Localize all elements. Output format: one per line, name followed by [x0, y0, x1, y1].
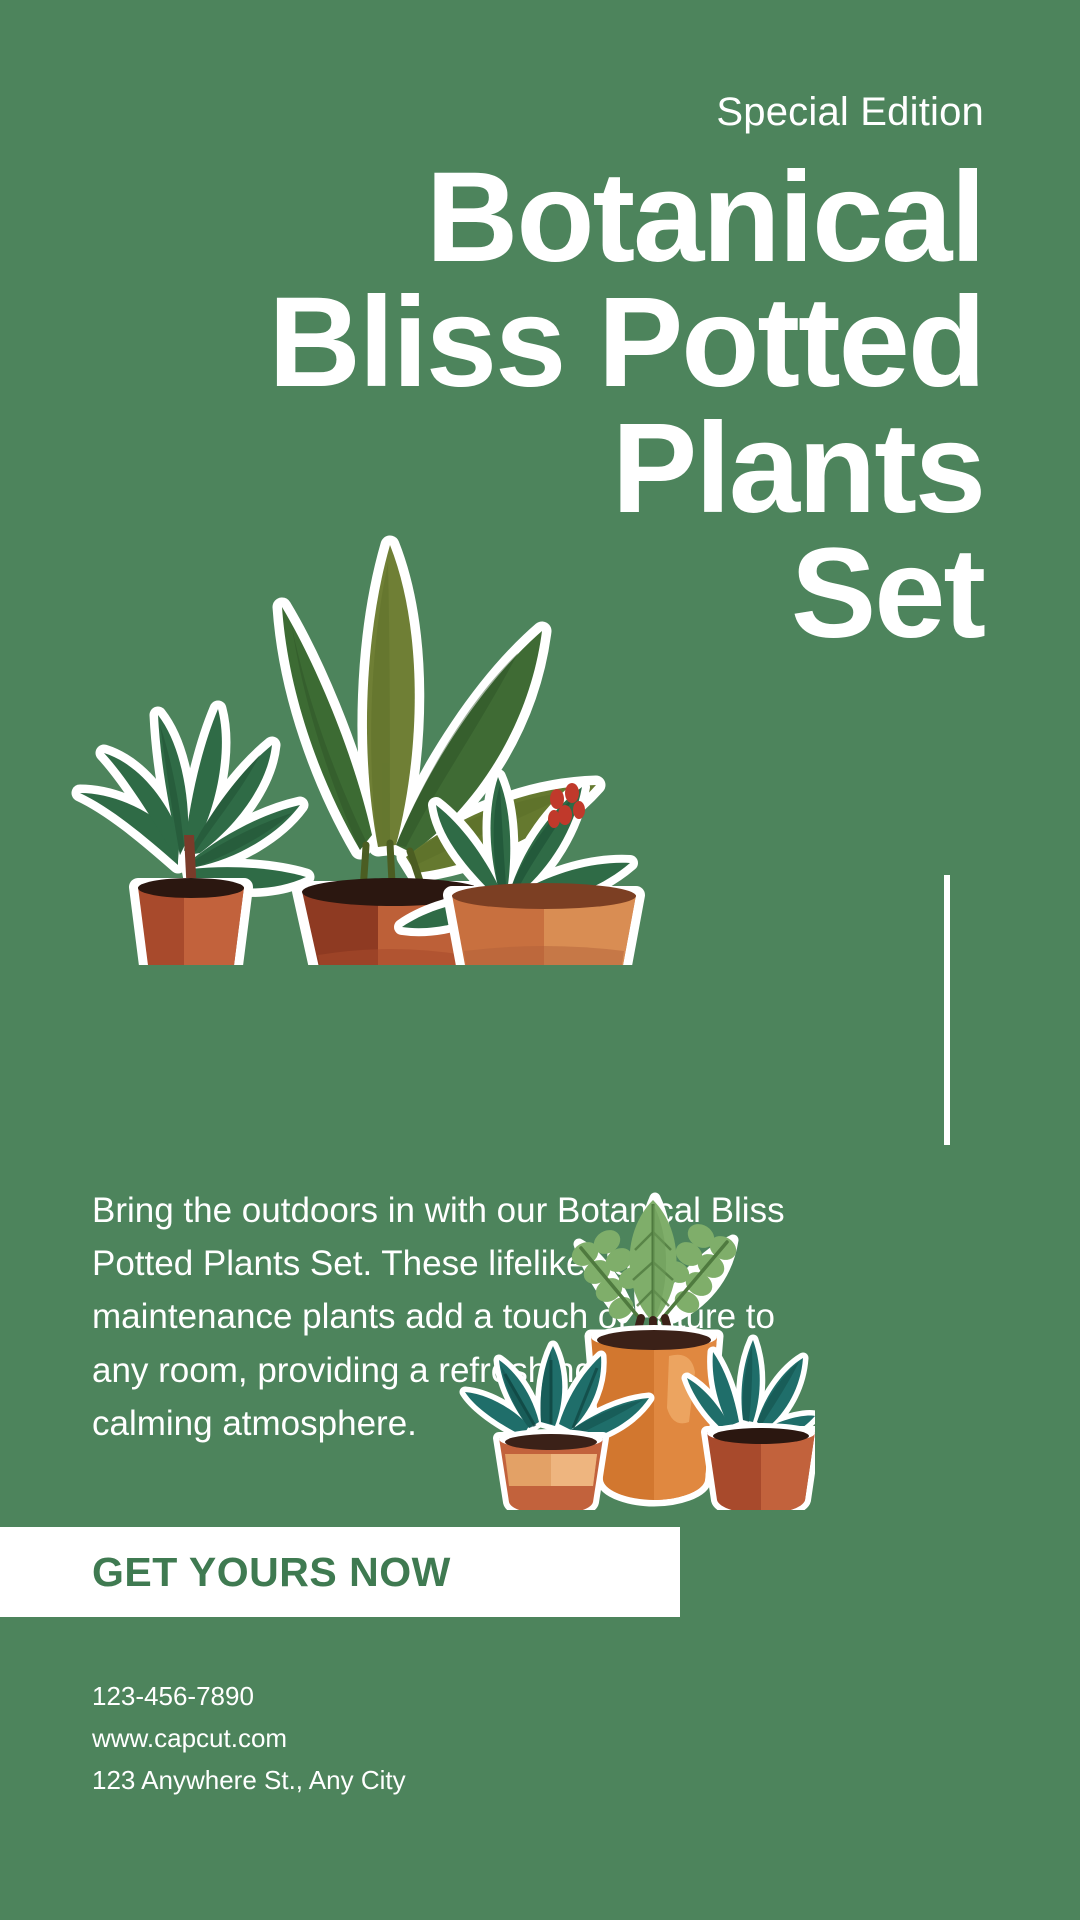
contact-phone[interactable]: 123-456-7890 — [92, 1675, 406, 1717]
title-line-2: Bliss Potted — [60, 280, 984, 405]
potted-plants-trio-illustration — [60, 395, 660, 965]
vertical-divider — [944, 875, 950, 1145]
contact-block: 123-456-7890 www.capcut.com 123 Anywhere… — [92, 1675, 406, 1801]
left-palm-plant — [80, 709, 306, 965]
contact-address: 123 Anywhere St., Any City — [92, 1759, 406, 1801]
contact-website[interactable]: www.capcut.com — [92, 1717, 406, 1759]
title-line-1: Botanical — [60, 155, 984, 280]
cta-button-label[interactable]: GET YOURS NOW — [92, 1549, 451, 1596]
potted-plants-cluster-illustration — [455, 1170, 815, 1510]
eyebrow-special-edition: Special Edition — [716, 92, 984, 132]
poster-canvas: Special Edition Botanical Bliss Potted P… — [0, 0, 1080, 1920]
